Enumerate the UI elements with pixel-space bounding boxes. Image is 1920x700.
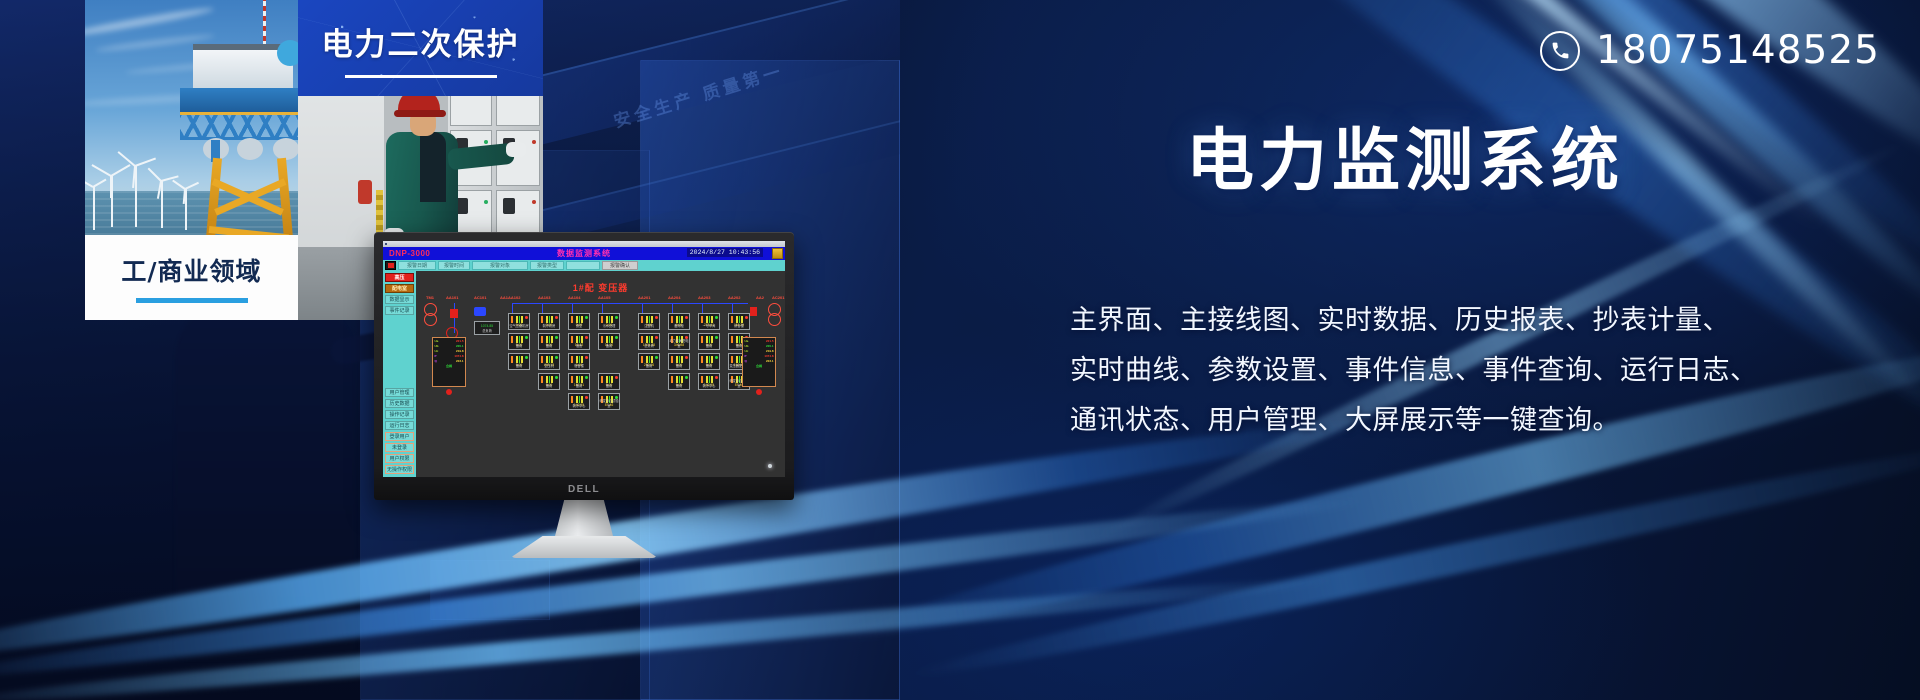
alarm-stop-button[interactable] — [385, 261, 396, 270]
monitor-bezel: DNP-3000 数据监测系统 2024/8/27 10:43:56 报警日期 … — [374, 232, 794, 500]
feeder-tag: AC201 — [772, 295, 784, 300]
feeder-cell[interactable]: 275.41一号车间 — [698, 313, 720, 330]
scada-header: DNP-3000 数据监测系统 2024/8/27 10:43:56 — [383, 247, 785, 260]
scada-clock: 2024/8/27 10:43:56 — [687, 248, 763, 257]
toolbar-alarm-date[interactable]: 报警日期 — [398, 261, 436, 270]
sidebar-item-event-log[interactable]: 事件记录 — [385, 306, 414, 315]
badge-white-label: 工/商业领域 — [121, 252, 261, 288]
status-indicator — [756, 389, 762, 395]
phone-number: 18075148525 — [1596, 28, 1880, 73]
transformer-symbol — [768, 313, 781, 326]
feeder-tag: AA201 — [638, 295, 650, 300]
measurement-info-panel[interactable]: Ua221.5 Ub220.1 Uc219.8 P1074.8 Q223.1 合… — [742, 337, 776, 387]
feeder-cell[interactable]: 0.00备用 — [508, 333, 530, 350]
feeder-cell[interactable]: 346.88动力车间配电室 — [668, 333, 690, 350]
desc-line-2: 实时曲线、参数设置、事件信息、事件查询、运行日志、 — [1070, 346, 1870, 396]
sidebar-item-not-logged-in: 未登录 — [385, 443, 414, 452]
scada-application: DNP-3000 数据监测系统 2024/8/27 10:43:56 报警日期 … — [383, 241, 785, 477]
badge-white-underline — [136, 298, 248, 303]
sidebar-item-data-display[interactable]: 数据显示 — [385, 295, 414, 304]
feeder-tag: AA105 — [598, 295, 610, 300]
feeder-cell[interactable]: 142.95制冷中心 — [698, 373, 720, 390]
feeder-cell[interactable]: 118.20综合楼 — [728, 313, 750, 330]
scada-toolbar: 报警日期 报警时间 报警对象 报警类型 报警确认 — [383, 260, 785, 271]
dell-monitor: DNP-3000 数据监测系统 2024/8/27 10:43:56 报警日期 … — [374, 232, 794, 500]
scada-sidebar: 高压 配电室 数据显示 事件记录 用户管理 历史数据 操作记录 运行日志 登录用… — [383, 271, 416, 477]
busdrop — [542, 303, 543, 313]
status-indicator — [446, 389, 452, 395]
desc-line-1: 主界面、主接线图、实时数据、历史报表、抄表计量、 — [1070, 296, 1870, 346]
feeder-tag: AA202 — [728, 295, 740, 300]
sidebar-item-no-permission: 无操作权限 — [385, 465, 414, 474]
feeder-cell[interactable]: 0.00宿舍楼 — [568, 353, 590, 370]
feeder-cell[interactable]: 0.00备用 — [508, 353, 530, 370]
toolbar-alarm-object[interactable]: 报警对象 — [472, 261, 528, 270]
feeder-cell[interactable]: 0.00食堂 — [568, 313, 590, 330]
busdrop — [642, 303, 643, 313]
breaker-symbol — [750, 307, 757, 316]
feature-description: 主界面、主接线图、实时数据、历史报表、抄表计量、 实时曲线、参数设置、事件信息、… — [1070, 296, 1870, 446]
promo-banner: 安全生产 质量第一 规范操作 安全用电 — [0, 0, 1920, 700]
feeder-cell[interactable]: 1074.85 总负荷 — [474, 321, 500, 335]
sidebar-item-login-user[interactable]: 登录用户 — [385, 432, 414, 441]
contact-phone[interactable]: 18075148525 — [1540, 28, 1880, 73]
badge-blue-label: 电力二次保护 — [322, 19, 520, 64]
measurement-info-panel[interactable]: Ua221.5 Ub220.1 Uc219.8 P1074.8 Q223.1 合… — [432, 337, 466, 387]
feeder-cell[interactable]: 443.13空压机 — [538, 353, 560, 370]
feeder-tag: AA1 — [500, 295, 508, 300]
toolbar-blank[interactable] — [566, 261, 600, 270]
sidebar-item-distribution-room[interactable]: 配电室 — [385, 284, 414, 293]
monitor-power-led — [768, 464, 772, 468]
feeder-cell[interactable]: 0.00污水处理 — [598, 313, 620, 330]
desc-line-3: 通讯状态、用户管理、大屏展示等一键查询。 — [1070, 396, 1870, 446]
toolbar-alarm-confirm[interactable]: 报警确认 — [602, 261, 638, 270]
scada-body: 高压 配电室 数据显示 事件记录 用户管理 历史数据 操作记录 运行日志 登录用… — [383, 271, 785, 477]
phone-circle-icon — [1540, 31, 1580, 71]
sidebar-item-history-data[interactable]: 历史数据 — [385, 399, 414, 408]
feeder-tag: TM1 — [426, 295, 434, 300]
feeder-cell[interactable]: 0.00备用 — [538, 373, 560, 390]
page-title: 电力监测系统 — [1186, 105, 1624, 204]
feeder-cell[interactable]: 1074.85总负荷 — [638, 333, 660, 350]
feeder-cell[interactable]: 0.00备用 — [698, 333, 720, 350]
feeder-tag: AA102 — [508, 295, 520, 300]
feeder-cell[interactable]: 0.00空气压缩机房 — [508, 313, 530, 330]
window-icon — [385, 243, 387, 245]
busdrop — [732, 303, 733, 313]
feeder-tag: AC101 — [474, 295, 486, 300]
feeder-tag: AA104 — [568, 295, 580, 300]
feeder-cell[interactable]: 0.00备用 — [668, 373, 690, 390]
scada-single-line-diagram: 1#配 变压器 TM1 AA101 AC101 AA1 — [416, 271, 785, 477]
feeder-tag: AA2 — [756, 295, 764, 300]
feeder-cell[interactable]: 0.00备用 — [538, 333, 560, 350]
scada-logo-icon — [772, 248, 783, 259]
feeder-cell[interactable]: 292.06备用 — [638, 353, 660, 370]
sidebar-item-run-log[interactable]: 运行日志 — [385, 421, 414, 430]
diagram-title: 1#配 变压器 — [573, 281, 629, 294]
feeder-cell[interactable]: 0.00备用 — [598, 373, 620, 390]
light-ribbon — [909, 431, 1920, 689]
sidebar-item-user-management[interactable]: 用户管理 — [385, 388, 414, 397]
feeder-cell[interactable]: 13.62宿舍 — [568, 333, 590, 350]
feeder-tag: AA101 — [446, 295, 458, 300]
feeder-tag: AA204 — [668, 295, 680, 300]
sidebar-item-operation-record[interactable]: 操作记录 — [385, 410, 414, 419]
busbar — [512, 303, 748, 304]
busdrop — [512, 303, 513, 313]
sidebar-item-high-voltage[interactable]: 高压 — [385, 273, 414, 282]
transformer-symbol — [424, 313, 437, 326]
feeder-cell[interactable]: 0.00备用 — [698, 353, 720, 370]
busdrop — [602, 303, 603, 313]
feeder-tag: AA203 — [698, 295, 710, 300]
ct-symbol — [474, 307, 486, 316]
breaker-symbol — [450, 309, 458, 318]
feeder-cell[interactable]: 0.00备用 — [668, 353, 690, 370]
toolbar-alarm-type[interactable]: 报警类型 — [530, 261, 564, 270]
monitor-screen: DNP-3000 数据监测系统 2024/8/27 10:43:56 报警日期 … — [383, 241, 785, 477]
feeder-cell[interactable]: 0.00注塑机 — [638, 313, 660, 330]
feeder-cell[interactable]: 87.46研发中心试验室 — [598, 393, 620, 410]
feeder-cell[interactable]: 0.00备用柜 — [668, 313, 690, 330]
feeder-cell[interactable]: 142.95制冷中心 — [568, 393, 590, 410]
feeder-cell[interactable]: 0.00制冷机房 — [538, 313, 560, 330]
sidebar-item-user-permission[interactable]: 用户权限 — [385, 454, 414, 463]
feeder-tag: AA103 — [538, 295, 550, 300]
badge-power-secondary-protection: 电力二次保护 — [298, 0, 543, 96]
toolbar-alarm-time[interactable]: 报警时间 — [438, 261, 470, 270]
busdrop — [672, 303, 673, 313]
feeder-cell[interactable]: 167.91备用 — [568, 373, 590, 390]
feeder-cell[interactable]: 11.00备用 — [598, 333, 620, 350]
badge-industrial-commercial: 工/商业领域 — [85, 235, 298, 320]
busdrop — [572, 303, 573, 313]
busdrop — [702, 303, 703, 313]
dell-logo: DELL — [568, 484, 600, 495]
badge-blue-underline — [345, 75, 497, 78]
